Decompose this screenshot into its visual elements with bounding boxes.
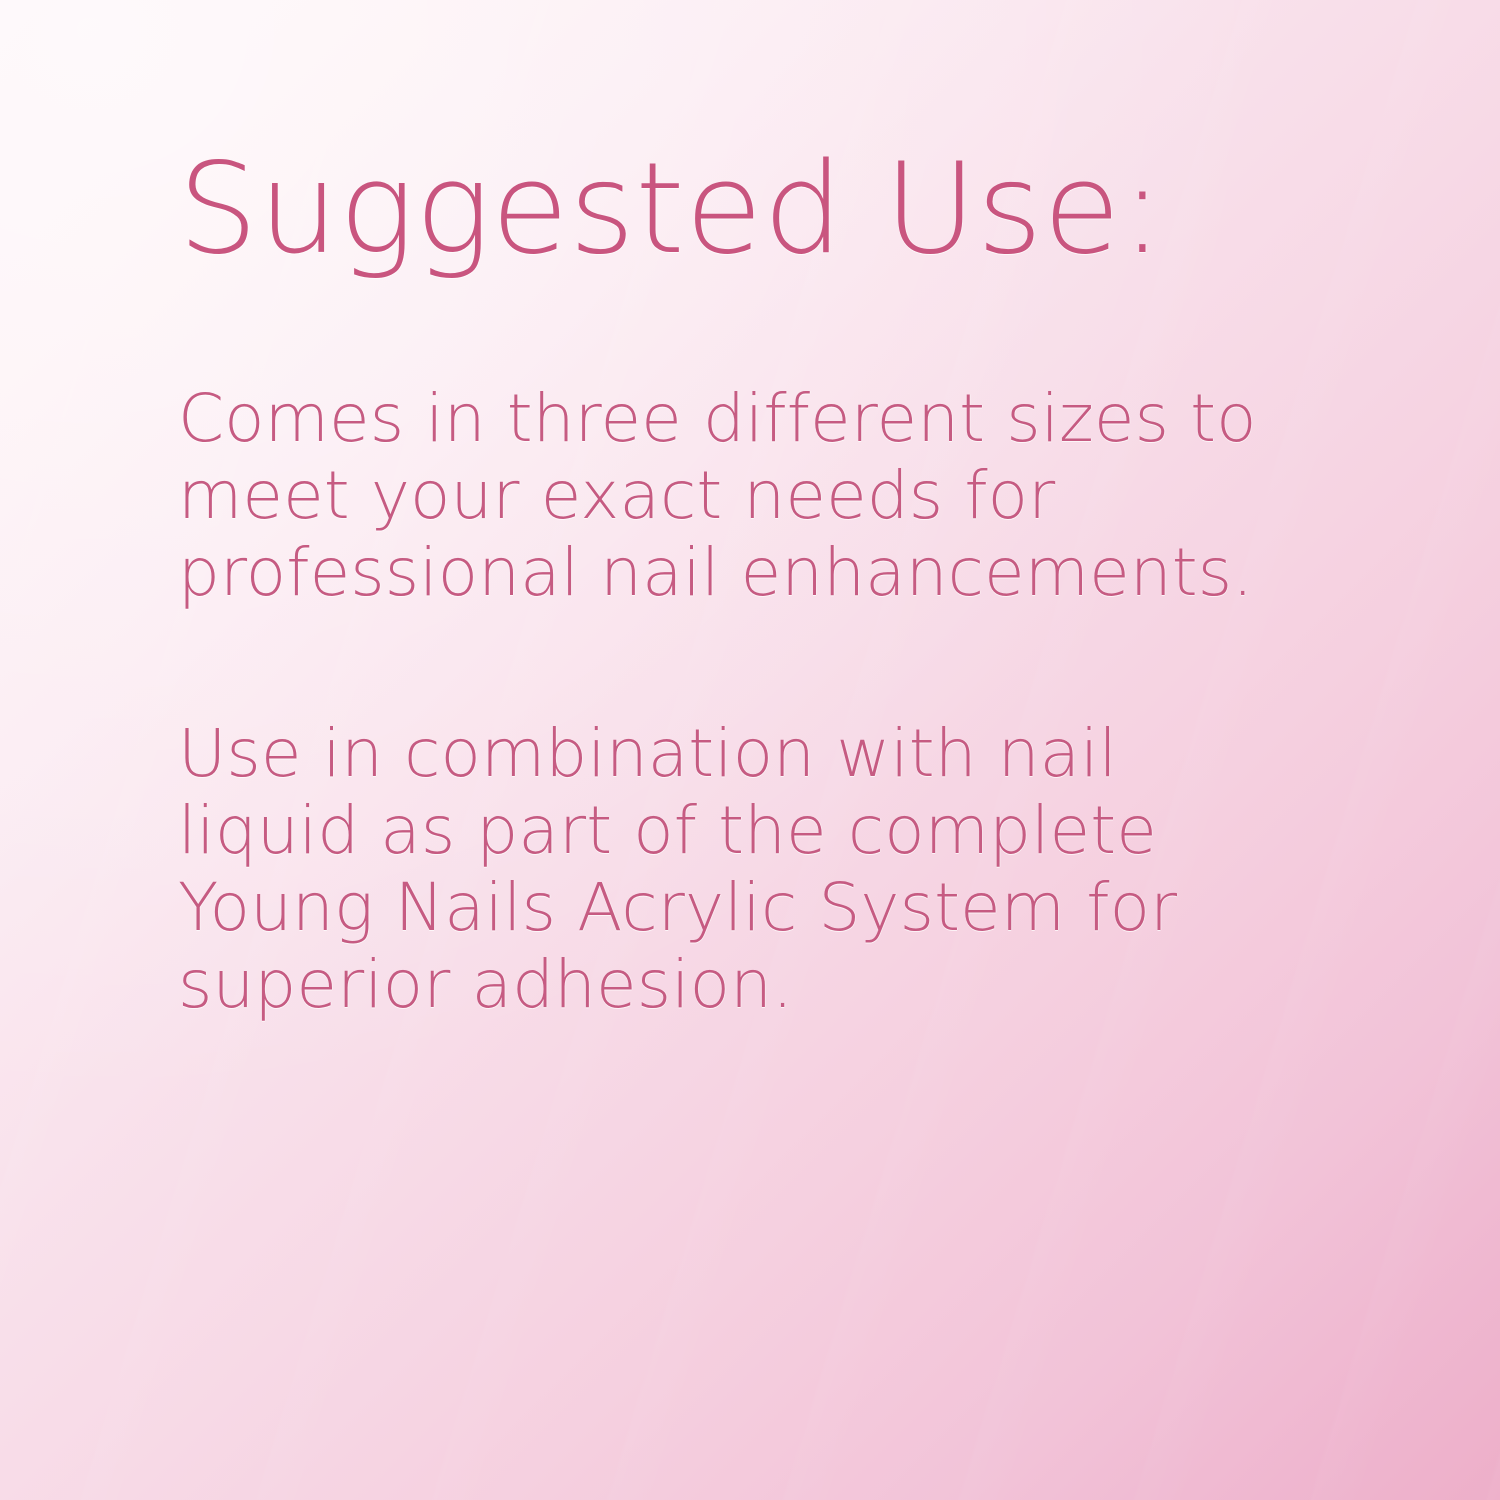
description-paragraph-1: Comes in three different sizes to meet y… <box>178 380 1263 611</box>
page-title: Suggested Use: <box>178 0 1288 272</box>
body-copy: Comes in three different sizes to meet y… <box>178 380 1288 1023</box>
content-column: Suggested Use: Comes in three different … <box>178 0 1288 1023</box>
suggested-use-panel: Suggested Use: Comes in three different … <box>0 0 1500 1500</box>
description-paragraph-2: Use in combination with nail liquid as p… <box>178 715 1263 1023</box>
